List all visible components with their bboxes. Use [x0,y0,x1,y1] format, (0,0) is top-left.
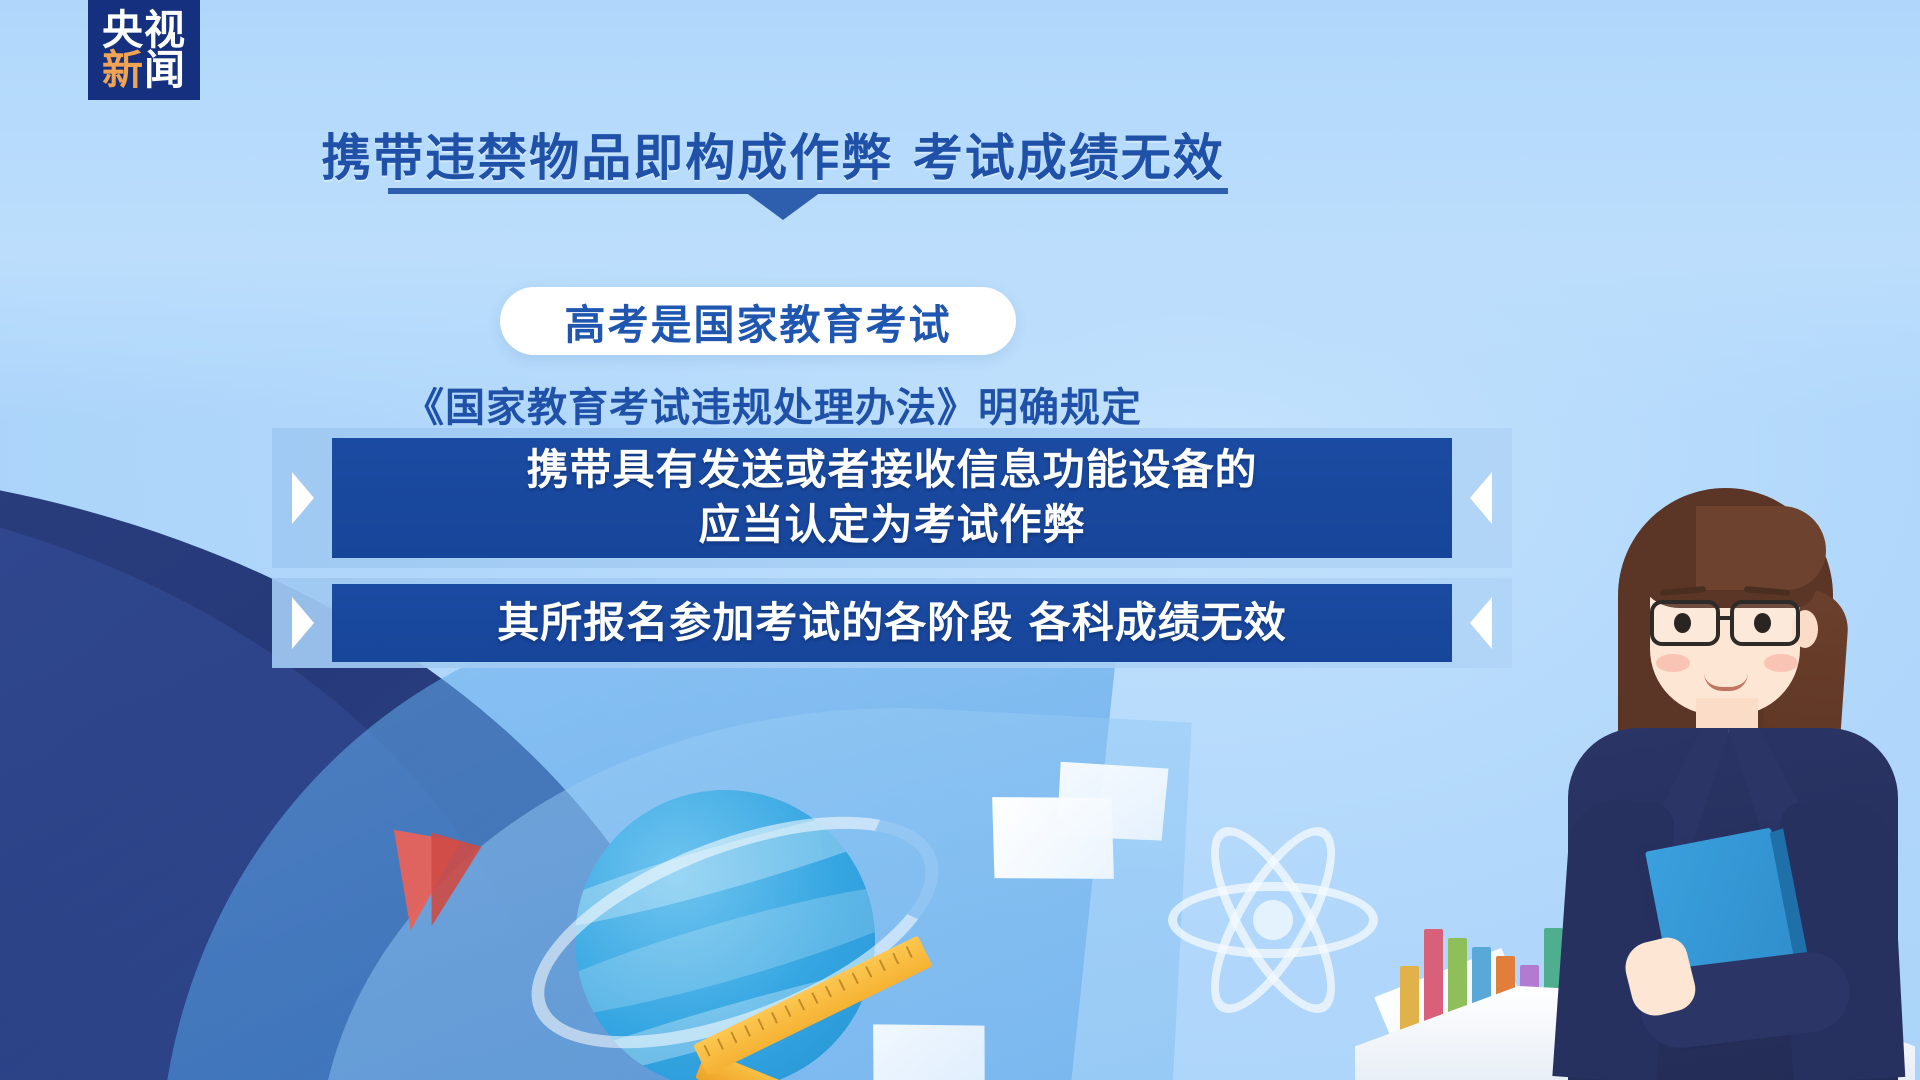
statement-card-body: 其所报名参加考试的各阶段 各科成绩无效 [332,584,1452,662]
logo-line-2: 新闻 [102,50,186,90]
cctv-news-logo: 央视 新闻 [88,0,200,100]
blush-left [1656,654,1690,672]
regulation-source: 《国家教育考试违规处理办法》明确规定 [0,375,1546,433]
chevron-right-icon [292,597,314,649]
eye-right [1754,613,1771,633]
highlight-pill: 高考是国家教育考试 [500,287,1016,355]
logo-char-wen: 闻 [144,46,186,94]
hair-sweep [1696,506,1826,590]
chevron-left-icon [1470,472,1492,524]
highlight-pill-text: 高考是国家教育考试 [565,291,952,351]
statement-line-2: 应当认定为考试作弊 [698,498,1085,553]
logo-line-1: 央视 [102,10,186,50]
statement-card: 携带具有发送或者接收信息功能设备的 应当认定为考试作弊 [272,428,1512,568]
chevron-right-icon [292,472,314,524]
statement-line-1: 其所报名参加考试的各阶段 各科成绩无效 [497,598,1287,648]
glasses-icon [1644,600,1822,650]
atom-icon [1168,815,1378,1025]
news-graphic-canvas: 央视 新闻 携带违禁物品即构成作弊 考试成绩无效 提 醒 高考是国家教育考试 《… [0,0,1920,1080]
background-top-tint [0,0,1920,420]
chevron-left-icon [1470,597,1492,649]
logo-char-xin: 新 [102,46,144,94]
blush-right [1764,654,1798,672]
statement-card-body: 携带具有发送或者接收信息功能设备的 应当认定为考试作弊 [332,438,1452,558]
statement-card: 其所报名参加考试的各阶段 各科成绩无效 [272,578,1512,668]
eye-left [1674,613,1691,633]
chevron-down-icon [745,192,821,220]
teacher-illustration [1500,470,1920,1080]
page-title: 携带违禁物品即构成作弊 考试成绩无效 [0,118,1546,190]
statement-line-1: 携带具有发送或者接收信息功能设备的 [526,443,1257,498]
